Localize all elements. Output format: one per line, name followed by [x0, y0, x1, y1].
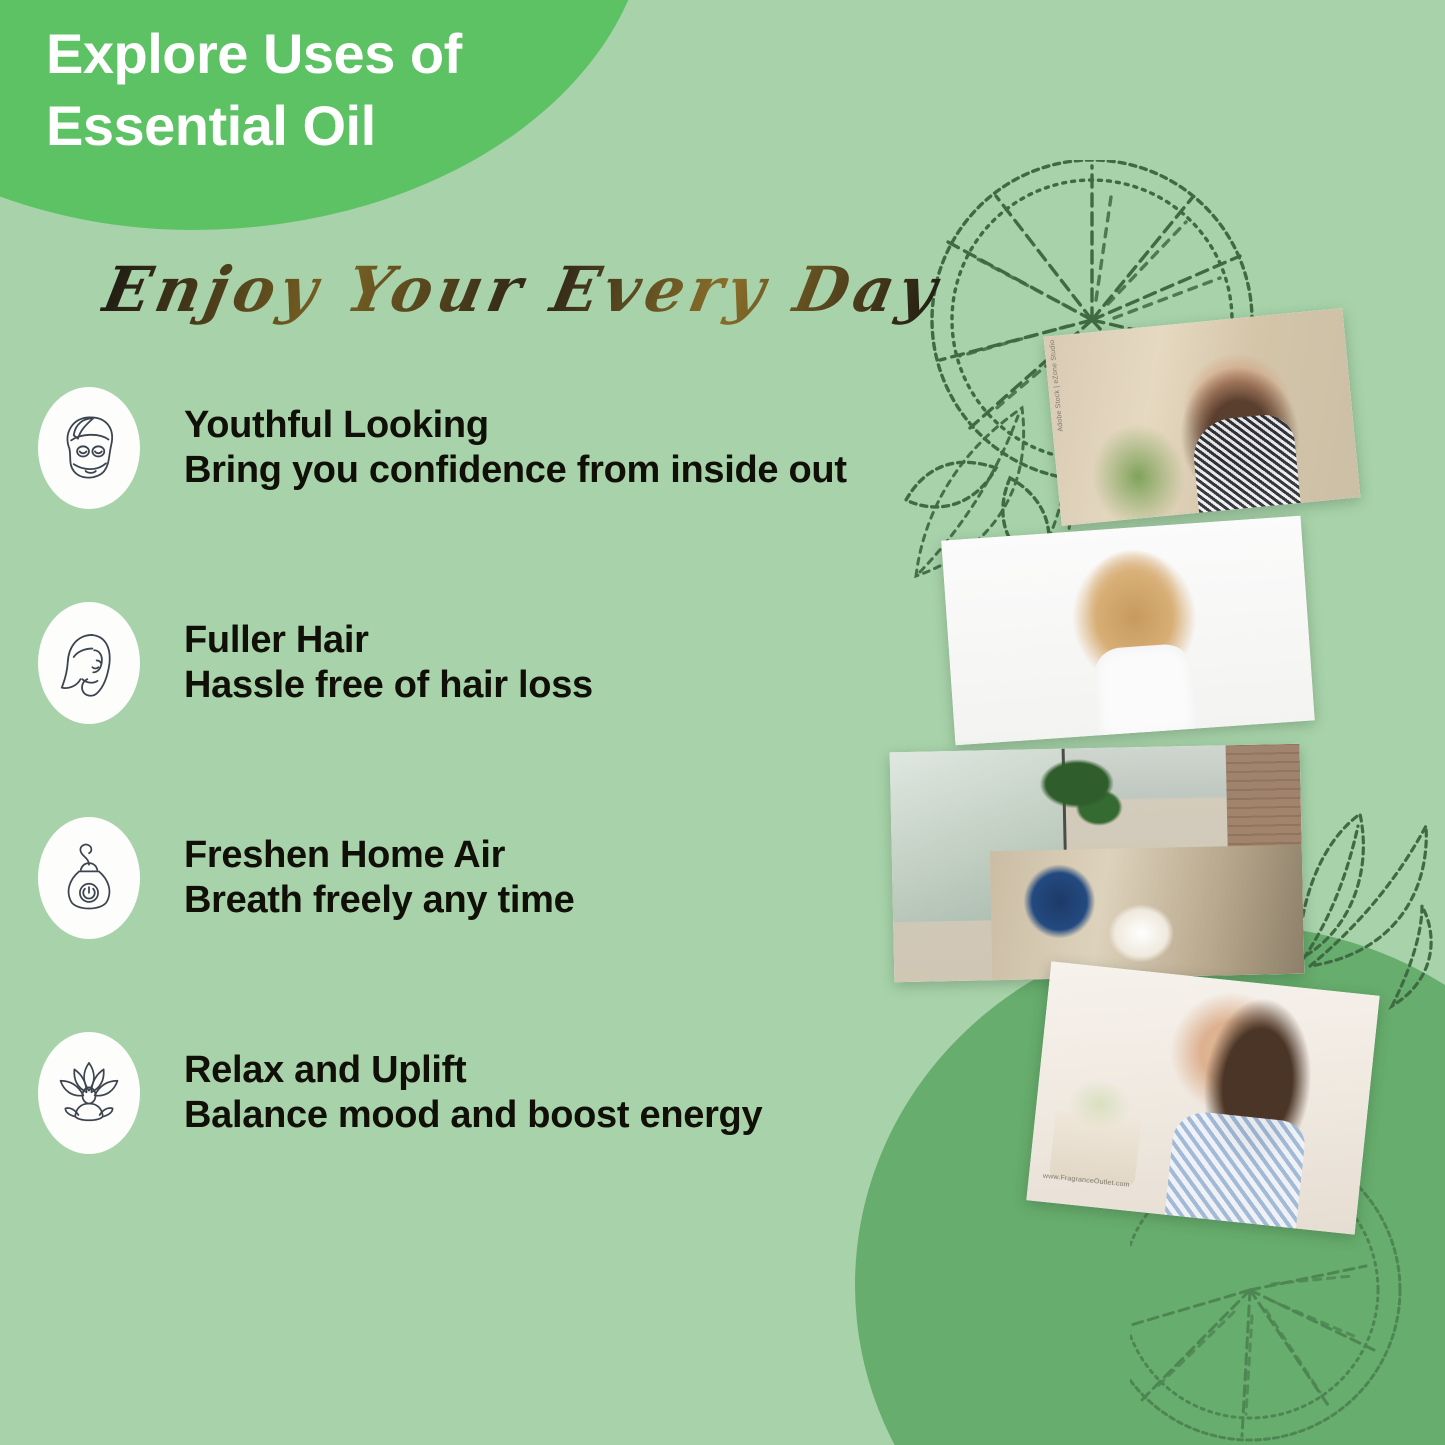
photo-scene [1026, 961, 1379, 1234]
feature-row-relax-and-uplift: Relax and Uplift Balance mood and boost … [0, 1005, 1040, 1180]
feature-subtitle: Hassle free of hair loss [184, 663, 593, 707]
photo-image [1044, 308, 1361, 526]
feature-subtitle: Breath freely any time [184, 878, 574, 922]
oil-diffuser-icon [38, 817, 140, 939]
feature-title: Freshen Home Air [184, 833, 574, 877]
feature-subtitle: Balance mood and boost energy [184, 1093, 762, 1137]
feature-text: Freshen Home Air Breath freely any time [184, 833, 574, 921]
feature-title: Relax and Uplift [184, 1048, 762, 1092]
plant-detail [1029, 752, 1129, 855]
hair-profile-icon [38, 602, 140, 724]
feature-row-fuller-hair: Fuller Hair Hassle free of hair loss [0, 575, 1040, 750]
photo-scene [941, 516, 1314, 746]
feature-text: Fuller Hair Hassle free of hair loss [184, 618, 593, 706]
lotus-meditation-icon [38, 1032, 140, 1154]
photo-image [1026, 961, 1379, 1234]
photo-scene [1044, 308, 1361, 526]
feature-title: Youthful Looking [184, 403, 847, 447]
feature-list: Youthful Looking Bring you confidence fr… [0, 360, 1040, 1220]
brick-wall-detail [1226, 744, 1303, 888]
feature-row-freshen-home-air: Freshen Home Air Breath freely any time [0, 790, 1040, 965]
infographic-canvas: Explore Uses of Essential Oil Enjoy Your… [0, 0, 1445, 1445]
vase-detail [1049, 1078, 1145, 1187]
photo-image [941, 516, 1314, 746]
feature-text: Youthful Looking Bring you confidence fr… [184, 403, 847, 491]
photo-smiling-woman-indoors: Adobe Stock | eZone Studio [1044, 308, 1361, 526]
leaf-sketch-right [1280, 810, 1445, 1010]
tagline-script: Enjoy Your Every Day [97, 253, 947, 326]
photo-scene [890, 744, 1305, 983]
face-mask-icon [38, 387, 140, 509]
photo-image [890, 744, 1305, 983]
photo-woman-applying-perfume: www.FragranceOutlet.com [1026, 961, 1379, 1234]
feature-row-youthful-looking: Youthful Looking Bring you confidence fr… [0, 360, 1040, 535]
feature-subtitle: Bring you confidence from inside out [184, 448, 847, 492]
photo-cozy-living-room [890, 744, 1305, 983]
page-title: Explore Uses of Essential Oil [46, 18, 686, 161]
feature-text: Relax and Uplift Balance mood and boost … [184, 1048, 762, 1136]
feature-title: Fuller Hair [184, 618, 593, 662]
photo-blonde-long-hair-model [941, 516, 1314, 746]
